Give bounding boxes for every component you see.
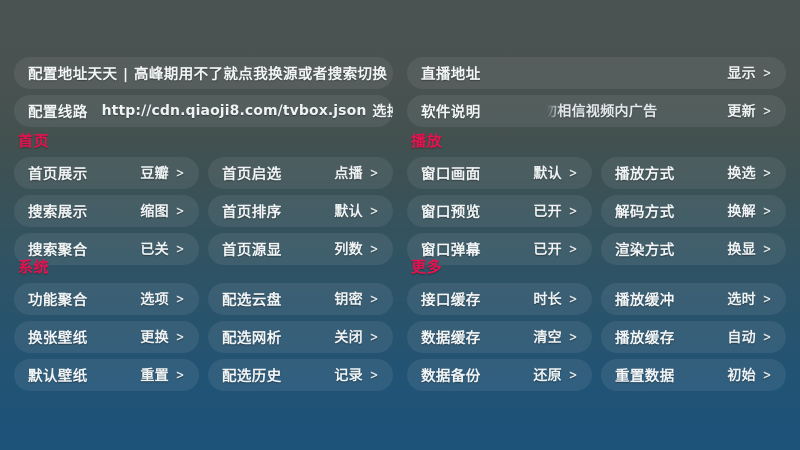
setting-label: 配选云盘 (222, 289, 282, 310)
setting-label: 首页展示 (28, 163, 88, 184)
chevron-right-icon: > (176, 242, 185, 256)
setting-label: 配选历史 (222, 365, 282, 386)
setting-label: 功能聚合 (28, 289, 88, 310)
chevron-right-icon: > (370, 292, 379, 306)
setting-pill-解码方式[interactable]: 解码方式换解> (601, 195, 786, 227)
setting-pill-首页排序[interactable]: 首页排序默认> (208, 195, 393, 227)
setting-pill-播放缓存[interactable]: 播放缓存自动> (601, 321, 786, 353)
notice-banner-label: 配置地址天天 | 高峰期用不了就点我换源或者搜索切换 (28, 63, 387, 84)
setting-value: 豆瓣 (140, 163, 169, 183)
setting-label: 数据备份 (421, 365, 481, 386)
setting-label: 渲染方式 (615, 239, 675, 260)
setting-label: 首页排序 (222, 201, 282, 222)
software-note-pill[interactable]: 软件说明 勿相信视频内广告 更新 > (407, 95, 786, 127)
chevron-right-icon: > (569, 204, 578, 218)
setting-value: 关闭 (334, 327, 363, 347)
chevron-right-icon: > (763, 242, 772, 256)
setting-label: 解码方式 (615, 201, 675, 222)
live-address-label: 直播地址 (421, 63, 481, 84)
chevron-right-icon: > (370, 166, 379, 180)
setting-pill-播放方式[interactable]: 播放方式换选> (601, 157, 786, 189)
chevron-right-icon: > (176, 368, 185, 382)
setting-pill-首页启选[interactable]: 首页启选点播> (208, 157, 393, 189)
setting-pill-配选历史[interactable]: 配选历史记录> (208, 359, 393, 391)
setting-label: 接口缓存 (421, 289, 481, 310)
chevron-right-icon: > (569, 368, 578, 382)
section-header-1: 播放 (411, 130, 442, 151)
setting-value: 选时 (727, 289, 756, 309)
setting-label: 搜索展示 (28, 201, 88, 222)
chevron-right-icon: > (763, 292, 772, 306)
setting-label: 播放缓冲 (615, 289, 675, 310)
chevron-right-icon: > (763, 368, 772, 382)
setting-pill-功能聚合[interactable]: 功能聚合选项> (14, 283, 199, 315)
setting-pill-搜索展示[interactable]: 搜索展示缩图> (14, 195, 199, 227)
setting-value: 更换 (140, 327, 169, 347)
setting-value: 初始 (727, 365, 756, 385)
chevron-right-icon: > (763, 166, 772, 180)
setting-pill-播放缓冲[interactable]: 播放缓冲选时> (601, 283, 786, 315)
setting-value: 换显 (727, 239, 756, 259)
chevron-right-icon: > (763, 204, 772, 218)
setting-pill-接口缓存[interactable]: 接口缓存时长> (407, 283, 592, 315)
setting-pill-首页源显[interactable]: 首页源显列数> (208, 233, 393, 265)
setting-label: 数据缓存 (421, 327, 481, 348)
setting-pill-首页展示[interactable]: 首页展示豆瓣> (14, 157, 199, 189)
chevron-right-icon: > (370, 330, 379, 344)
chevron-right-icon: > (763, 330, 772, 344)
config-line-value: 选换 (372, 101, 393, 121)
config-line-url: http://cdn.qiaoji8.com/tvbox.json (102, 103, 367, 119)
setting-pill-配选云盘[interactable]: 配选云盘钥密> (208, 283, 393, 315)
setting-value: 还原 (533, 365, 562, 385)
chevron-right-icon: > (370, 368, 379, 382)
live-address-pill[interactable]: 直播地址 显示 > (407, 57, 786, 89)
setting-value: 清空 (533, 327, 562, 347)
notice-banner-pill[interactable]: 配置地址天天 | 高峰期用不了就点我换源或者搜索切换 (14, 57, 393, 89)
setting-label: 窗口画面 (421, 163, 481, 184)
setting-pill-数据备份[interactable]: 数据备份还原> (407, 359, 592, 391)
setting-label: 首页启选 (222, 163, 282, 184)
setting-value: 换选 (727, 163, 756, 183)
setting-label: 重置数据 (615, 365, 675, 386)
chevron-right-icon: > (569, 166, 578, 180)
chevron-right-icon: > (763, 104, 772, 118)
setting-value: 点播 (334, 163, 363, 183)
chevron-right-icon: > (569, 242, 578, 256)
setting-label: 播放缓存 (615, 327, 675, 348)
setting-pill-默认壁纸[interactable]: 默认壁纸重置> (14, 359, 199, 391)
software-note-marquee: 勿相信视频内广告 (547, 95, 702, 127)
setting-pill-配选网析[interactable]: 配选网析关闭> (208, 321, 393, 353)
chevron-right-icon: > (370, 204, 379, 218)
setting-value: 自动 (727, 327, 756, 347)
chevron-right-icon: > (176, 166, 185, 180)
setting-value: 默认 (334, 201, 363, 221)
section-header-3: 更多 (411, 256, 442, 277)
setting-pill-窗口预览[interactable]: 窗口预览已开> (407, 195, 592, 227)
setting-value: 已关 (140, 239, 169, 259)
chevron-right-icon: > (569, 330, 578, 344)
setting-pill-数据缓存[interactable]: 数据缓存清空> (407, 321, 592, 353)
setting-value: 列数 (334, 239, 363, 259)
setting-value: 换解 (727, 201, 756, 221)
live-address-value: 显示 (727, 63, 756, 83)
chevron-right-icon: > (569, 292, 578, 306)
config-line-label: 配置线路 (28, 101, 88, 122)
settings-screen: 配置地址天天 | 高峰期用不了就点我换源或者搜索切换 直播地址 显示 > 配置线… (0, 0, 800, 450)
setting-value: 时长 (533, 289, 562, 309)
section-header-2: 系统 (18, 256, 49, 277)
setting-label: 窗口预览 (421, 201, 481, 222)
setting-label: 换张壁纸 (28, 327, 88, 348)
setting-pill-换张壁纸[interactable]: 换张壁纸更换> (14, 321, 199, 353)
setting-value: 缩图 (140, 201, 169, 221)
setting-label: 默认壁纸 (28, 365, 88, 386)
config-line-pill[interactable]: 配置线路 http://cdn.qiaoji8.com/tvbox.json 选… (14, 95, 393, 127)
setting-label: 播放方式 (615, 163, 675, 184)
software-note-marquee-text: 勿相信视频内广告 (547, 101, 657, 121)
chevron-right-icon: > (176, 204, 185, 218)
setting-value: 记录 (334, 365, 363, 385)
software-note-value: 更新 (727, 101, 756, 121)
setting-label: 配选网析 (222, 327, 282, 348)
setting-value: 已开 (533, 201, 562, 221)
chevron-right-icon: > (370, 242, 379, 256)
setting-pill-窗口画面[interactable]: 窗口画面默认> (407, 157, 592, 189)
setting-value: 默认 (533, 163, 562, 183)
setting-pill-重置数据[interactable]: 重置数据初始> (601, 359, 786, 391)
setting-value: 重置 (140, 365, 169, 385)
setting-value: 钥密 (334, 289, 363, 309)
chevron-right-icon: > (763, 66, 772, 80)
setting-value: 已开 (533, 239, 562, 259)
chevron-right-icon: > (176, 330, 185, 344)
chevron-right-icon: > (176, 292, 185, 306)
setting-value: 选项 (140, 289, 169, 309)
setting-label: 首页源显 (222, 239, 282, 260)
section-header-0: 首页 (18, 130, 49, 151)
software-note-label: 软件说明 (421, 101, 481, 122)
setting-pill-渲染方式[interactable]: 渲染方式换显> (601, 233, 786, 265)
